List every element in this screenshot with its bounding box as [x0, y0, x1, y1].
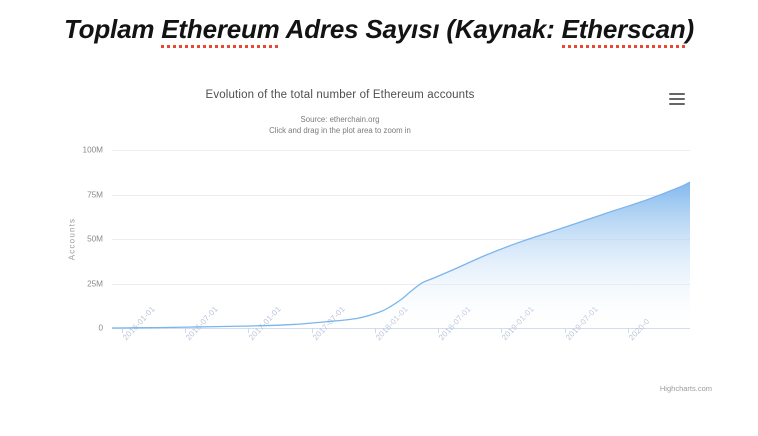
- page-title-text-2: Adres Sayısı (Kaynak:: [280, 14, 562, 44]
- page-title-text-1: Toplam: [64, 14, 161, 44]
- plot-area[interactable]: Accounts 025M50M75M100M 2016-01-012016-0…: [112, 150, 690, 328]
- highcharts-chart[interactable]: Evolution of the total number of Ethereu…: [40, 78, 718, 398]
- x-axis-tick: [565, 328, 566, 333]
- chart-subtitle-source: Source: etherchain.org: [40, 114, 640, 125]
- hamburger-bar-2: [669, 98, 685, 100]
- hamburger-menu-icon[interactable]: [667, 91, 687, 109]
- area-fill: [112, 182, 690, 328]
- chart-credits[interactable]: Highcharts.com: [660, 384, 712, 393]
- chart-subtitle-hint: Click and drag in the plot area to zoom …: [40, 125, 640, 136]
- chart-subtitle: Source: etherchain.org Click and drag in…: [40, 114, 640, 136]
- y-axis-tick-label: 50M: [87, 235, 103, 244]
- page-title-misspelled-word-etherscan: Etherscan: [562, 14, 686, 45]
- y-axis-tick-label: 0: [98, 324, 103, 333]
- y-axis-tick-label: 75M: [87, 190, 103, 199]
- page-title: Toplam Ethereum Adres Sayısı (Kaynak: Et…: [0, 14, 758, 45]
- y-axis-tick-label: 100M: [83, 146, 103, 155]
- hamburger-bar-3: [669, 103, 685, 105]
- y-axis-title: Accounts: [68, 218, 77, 261]
- x-axis-tick: [312, 328, 313, 333]
- y-axis-tick-label: 25M: [87, 279, 103, 288]
- page-title-text-3: ): [686, 14, 694, 44]
- page-title-misspelled-word-ethereum: Ethereum: [161, 14, 279, 45]
- hamburger-bar-1: [669, 93, 685, 95]
- chart-title: Evolution of the total number of Ethereu…: [40, 89, 640, 101]
- area-series: [112, 150, 690, 328]
